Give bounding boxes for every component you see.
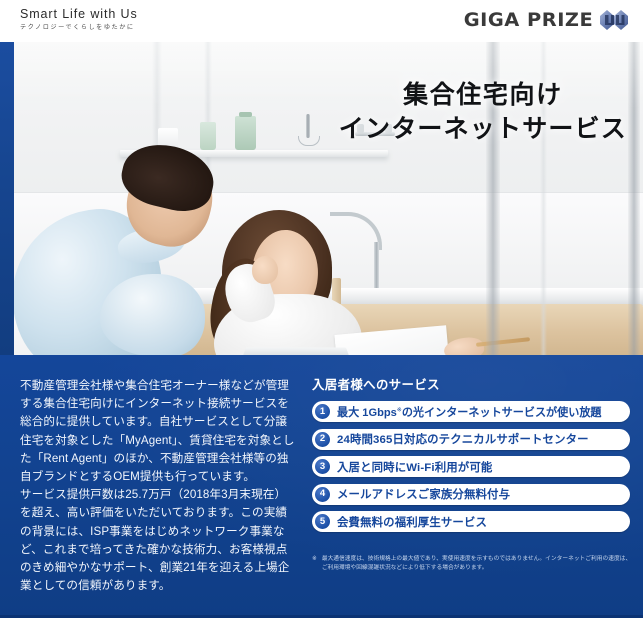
info-section: 不動産管理会社様や集合住宅オーナー様などが管理する集合住宅向けにインターネット接…	[0, 355, 643, 618]
footnote: ※ 最大通信速度は、技術規格上の最大値であり、実使用速度を示すものではありません…	[312, 555, 634, 573]
service-label-main: 最大 1Gbps	[337, 407, 397, 419]
service-number-badge: 5	[315, 514, 330, 529]
brand-wordmark: GIGA PRIZE	[464, 9, 594, 31]
woman-hand	[252, 256, 278, 284]
hero-title-line1: 集合住宅向け	[339, 78, 627, 112]
giga-prize-logo-mark-icon	[599, 9, 629, 31]
service-label: 最大 1Gbps※の光インターネットサービスが使い放題	[337, 404, 630, 420]
service-number-badge: 3	[315, 459, 330, 474]
service-item-5[interactable]: 5 会費無料の福利厚生サービス	[312, 511, 630, 532]
man-sleeve	[100, 274, 205, 355]
kitchen-jar	[235, 116, 256, 150]
hero-title: 集合住宅向け インターネットサービス	[339, 78, 627, 146]
footnote-text: 最大通信速度は、技術規格上の最大値であり、実使用速度を示すものではありません。イ…	[322, 555, 634, 573]
kitchen-jar	[200, 122, 216, 150]
services-column: 入居者様へのサービス 1 最大 1Gbps※の光インターネットサービスが使い放題…	[312, 375, 630, 539]
shelf-faucet-icon	[295, 114, 321, 148]
tagline-japanese: テクノロジーでくらしをゆたかに	[20, 23, 270, 33]
service-number-badge: 2	[315, 432, 330, 447]
service-item-3[interactable]: 3 入居と同時にWi-Fi利用が可能	[312, 456, 630, 477]
services-heading: 入居者様へのサービス	[312, 375, 630, 393]
service-item-1[interactable]: 1 最大 1Gbps※の光インターネットサービスが使い放題	[312, 401, 630, 422]
wall-panel	[628, 42, 640, 355]
laptop	[242, 347, 351, 355]
service-label: メールアドレスご家族分無料付与	[337, 486, 630, 502]
tagline-block: Smart Life with Us テクノロジーでくらしをゆたかに	[20, 7, 270, 33]
service-label: 入居と同時にWi-Fi利用が可能	[337, 459, 630, 475]
service-item-4[interactable]: 4 メールアドレスご家族分無料付与	[312, 484, 630, 505]
service-label-rest: の光インターネットサービスが使い放題	[402, 407, 602, 419]
description-paragraph-2: サービス提供戸数は25.7万戸（2018年3月末現在）を超え、高い評価をいただい…	[20, 486, 296, 595]
description-paragraph-1: 不動産管理会社様や集合住宅オーナー様などが管理する集合住宅向けにインターネット接…	[20, 377, 296, 486]
service-number-badge: 4	[315, 487, 330, 502]
brochure-page: Smart Life with Us テクノロジーでくらしをゆたかに GIGA …	[0, 0, 643, 618]
service-item-2[interactable]: 2 24時間365日対応のテクニカルサポートセンター	[312, 429, 630, 450]
page-header: Smart Life with Us テクノロジーでくらしをゆたかに GIGA …	[0, 0, 643, 42]
tagline-english: Smart Life with Us	[20, 7, 270, 21]
service-label: 会費無料の福利厚生サービス	[337, 514, 630, 530]
brand-logo[interactable]: GIGA PRIZE	[465, 9, 629, 31]
description-column: 不動産管理会社様や集合住宅オーナー様などが管理する集合住宅向けにインターネット接…	[20, 377, 296, 595]
service-number-badge: 1	[315, 404, 330, 419]
footnote-mark: ※	[312, 555, 317, 573]
hero-left-accent-band	[0, 42, 14, 355]
service-label: 24時間365日対応のテクニカルサポートセンター	[337, 431, 630, 447]
hero-title-line2: インターネットサービス	[339, 112, 627, 146]
